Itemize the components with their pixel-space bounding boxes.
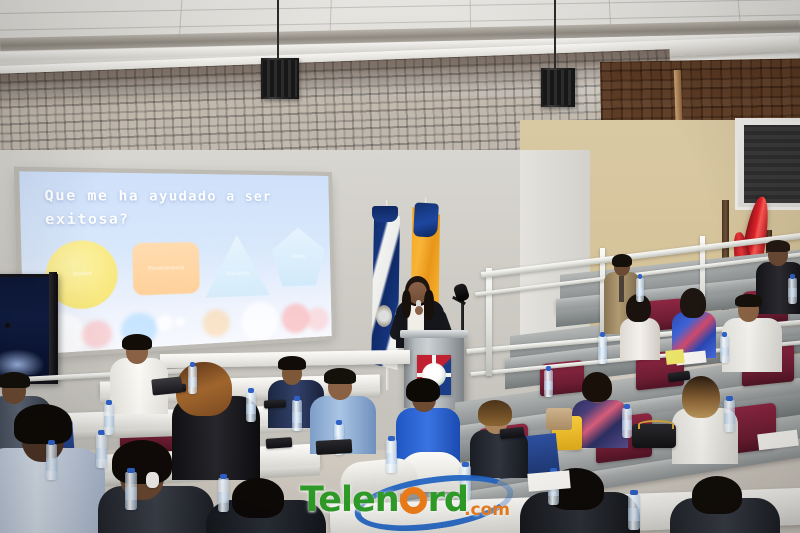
hair-clip-icon — [146, 472, 159, 488]
attendee-hair — [122, 334, 152, 350]
attendee-hair — [735, 294, 762, 307]
wall-monitor-edge — [49, 272, 57, 380]
logo-ring-icon — [400, 487, 427, 514]
speaker-hand — [415, 306, 423, 315]
slide-shape-label: Perseverancia — [148, 264, 184, 272]
ceiling-speaker — [261, 58, 299, 99]
speaker-hair-side — [402, 290, 411, 318]
water-bottle — [622, 408, 632, 438]
slide-shape-label: Actitud — [73, 270, 92, 278]
speaker-rod — [277, 0, 279, 62]
laptop-bag — [316, 439, 353, 455]
attendee-hair — [478, 400, 512, 426]
attendee-hair — [324, 368, 356, 384]
watermark-suffix: .com — [464, 500, 510, 520]
water-bottle — [125, 472, 137, 510]
attendee-hair — [232, 478, 284, 518]
paper-document — [527, 470, 570, 492]
wall-art-panel — [735, 118, 800, 210]
smartphone — [264, 399, 286, 408]
sticky-note — [665, 349, 684, 365]
presentation-slide: Actitud Perseverancia Disciplina Metas Q… — [19, 171, 332, 355]
slide-title-line1: Que me ha ayudado a ser — [44, 184, 310, 207]
attendee-hair — [406, 378, 440, 402]
water-bottle — [788, 278, 797, 304]
watermark-text-part1: Telen — [300, 480, 399, 520]
water-bottle — [104, 404, 114, 435]
smartphone — [266, 437, 293, 449]
telenord-watermark: Telenrd .com — [300, 476, 508, 524]
flag-top-fold — [413, 202, 439, 237]
attendee-hair — [682, 376, 720, 418]
water-bottle — [724, 400, 735, 432]
slide-shape-triangle: Disciplina — [204, 234, 270, 298]
attendee-hair — [692, 476, 742, 514]
attendee-hair — [0, 372, 30, 388]
water-bottle — [292, 400, 302, 431]
attendee-hair — [680, 288, 706, 318]
flag-coat-of-arms — [376, 305, 392, 327]
water-bottle — [598, 336, 607, 364]
water-bottle — [636, 278, 644, 302]
slide-shape-rect: Perseverancia — [133, 242, 200, 296]
slide-shape-label: Metas — [292, 253, 306, 260]
ceiling-speaker — [541, 68, 575, 107]
water-bottle — [628, 494, 640, 530]
attendee-tie — [619, 276, 624, 302]
slide-shape-pentagon: Metas — [271, 227, 325, 287]
water-bottle — [544, 370, 553, 397]
slide-title: Que me ha ayudado a ser exitosa? — [44, 184, 310, 231]
slide-shape-label: Disciplina — [226, 270, 249, 278]
attendee-hair — [582, 372, 612, 402]
water-bottle — [246, 392, 256, 422]
speaker-hair-side — [424, 290, 434, 320]
water-bottle — [46, 444, 57, 480]
water-bottle — [720, 336, 729, 363]
railing-post — [486, 268, 492, 376]
attendee-body — [722, 318, 782, 372]
attendee-hair — [14, 404, 72, 444]
auditorium-screenshot: Actitud Perseverancia Disciplina Metas Q… — [0, 0, 800, 533]
attendee-hair — [278, 356, 306, 370]
flag-top-fold — [372, 206, 398, 222]
attendee-hair — [112, 440, 172, 484]
water-bottle — [188, 366, 197, 394]
speaker-rod — [554, 0, 556, 72]
handbag-tan — [546, 408, 572, 430]
attendee-body — [620, 318, 660, 360]
slide-title-line2: exitosa? — [45, 208, 311, 232]
podium-top — [400, 330, 468, 338]
attendee-hair — [766, 240, 790, 252]
projection-screen: Actitud Perseverancia Disciplina Metas Q… — [19, 171, 332, 355]
laptop — [151, 376, 183, 395]
water-bottle — [96, 434, 107, 468]
water-bottle — [386, 440, 397, 473]
handbag-strap — [638, 420, 674, 429]
attendee-hair — [612, 254, 632, 267]
water-bottle — [218, 478, 229, 512]
watermark-text-part2: rd — [428, 480, 468, 520]
